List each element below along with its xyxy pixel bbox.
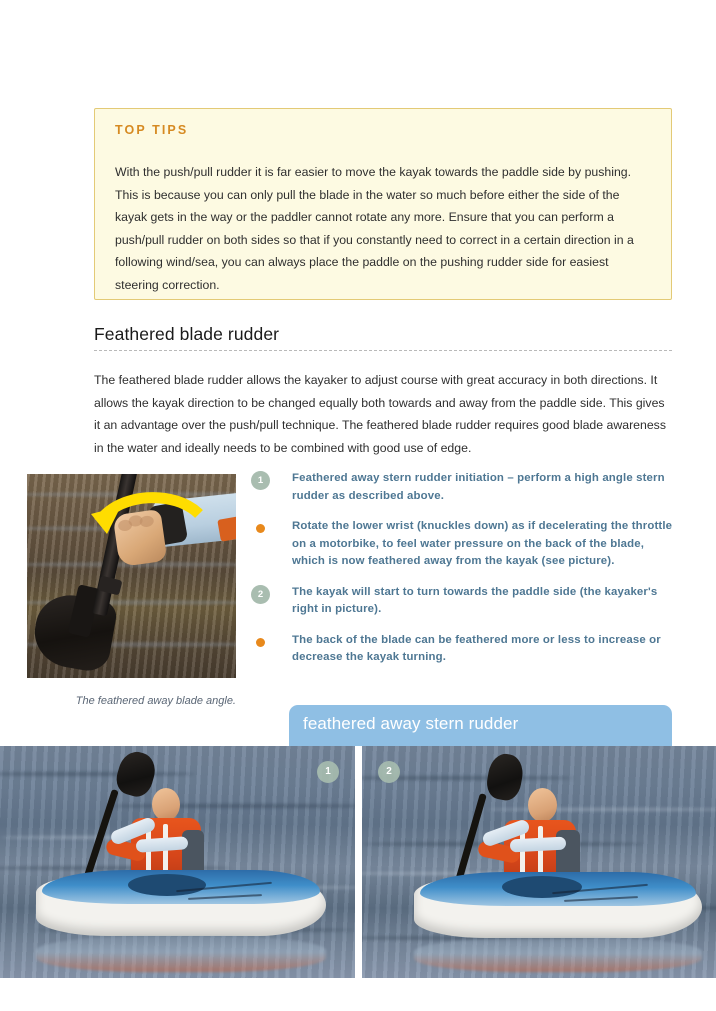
- detail-photo-feathered-blade-angle: [27, 474, 236, 678]
- section-heading: Feathered blade rudder: [94, 324, 279, 345]
- document-page: TOP TIPS With the push/pull rudder it is…: [0, 0, 716, 1011]
- step-number-badge: 1: [251, 471, 270, 490]
- detail-photo-caption: The feathered away blade angle.: [56, 692, 236, 711]
- paddler-head-shape: [152, 788, 180, 821]
- top-tips-title: TOP TIPS: [115, 123, 188, 137]
- step-text: The back of the blade can be feathered m…: [292, 632, 676, 667]
- top-tips-body: With the push/pull rudder it is far easi…: [115, 161, 649, 296]
- list-item: 2 The kayak will start to turn towards t…: [251, 584, 676, 619]
- sequence-photo-2: 2: [362, 746, 716, 978]
- photo-step-badge: 1: [317, 761, 339, 783]
- step-text: Rotate the lower wrist (knuckles down) a…: [292, 518, 676, 571]
- top-tips-callout: TOP TIPS With the push/pull rudder it is…: [94, 108, 672, 300]
- step-text: The kayak will start to turn towards the…: [292, 584, 676, 619]
- bullet-dot-icon: [256, 638, 265, 647]
- technique-banner-label: feathered away stern rudder: [303, 714, 518, 734]
- step-list: 1 Feathered away stern rudder initiation…: [251, 470, 676, 680]
- sequence-photo-strip: 1: [0, 746, 716, 978]
- step-text: Feathered away stern rudder initiation –…: [292, 470, 676, 505]
- water-reflection: [36, 936, 326, 972]
- list-item: 1 Feathered away stern rudder initiation…: [251, 470, 676, 505]
- water-reflection: [414, 938, 702, 972]
- list-item: Rotate the lower wrist (knuckles down) a…: [251, 518, 676, 571]
- paddler-head-shape: [528, 788, 557, 822]
- technique-banner: feathered away stern rudder: [289, 705, 672, 746]
- curved-arrow-icon: [27, 474, 236, 678]
- sequence-photo-1: 1: [0, 746, 355, 978]
- list-item: The back of the blade can be feathered m…: [251, 632, 676, 667]
- bullet-dot-icon: [256, 524, 265, 533]
- heading-divider: [94, 350, 672, 351]
- photo-step-badge: 2: [378, 761, 400, 783]
- section-intro-paragraph: The feathered blade rudder allows the ka…: [94, 369, 672, 459]
- step-number-badge: 2: [251, 585, 270, 604]
